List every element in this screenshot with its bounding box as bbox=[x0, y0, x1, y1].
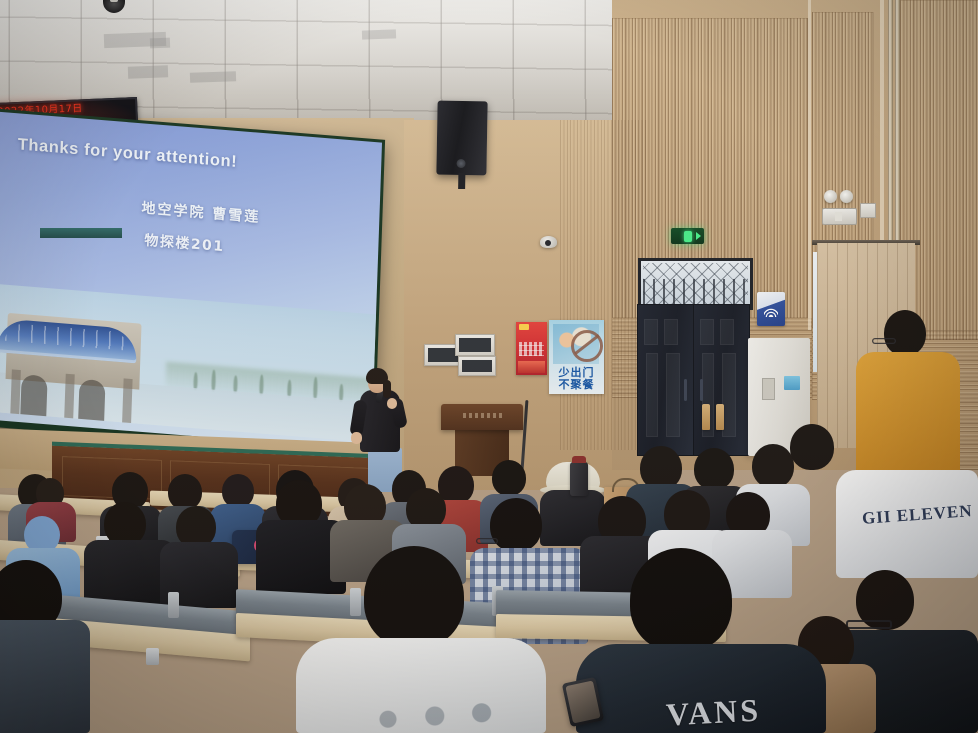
wall-slat-strip bbox=[560, 120, 646, 450]
poster-calendar-grid bbox=[519, 342, 544, 356]
emergency-light-lamp bbox=[824, 190, 837, 203]
emergency-exit-sign-icon bbox=[671, 228, 704, 244]
presenter-hair bbox=[383, 380, 391, 398]
projection-screen: Thanks for your attention! 地空学院 曹雪莲 物探楼2… bbox=[0, 112, 382, 451]
glasses-icon bbox=[846, 620, 892, 629]
thermos-bottle bbox=[570, 462, 588, 496]
person-head bbox=[884, 310, 926, 356]
running-man-icon bbox=[684, 231, 692, 242]
door-panel bbox=[644, 319, 658, 345]
wifi-icon bbox=[764, 305, 778, 317]
door-left[interactable] bbox=[637, 304, 694, 456]
door-right[interactable] bbox=[693, 304, 750, 456]
av-panel-face bbox=[428, 348, 458, 362]
person-head bbox=[492, 460, 526, 496]
poster-red bbox=[516, 322, 547, 375]
seat-post bbox=[350, 588, 361, 616]
door-handle[interactable] bbox=[700, 379, 703, 401]
emergency-light-unit bbox=[822, 208, 857, 225]
person-torso bbox=[856, 352, 960, 482]
wall-av-panel[interactable] bbox=[458, 356, 496, 376]
speaker-driver-icon bbox=[456, 159, 465, 168]
presenter-hand-left bbox=[351, 432, 362, 444]
person-head bbox=[752, 444, 794, 488]
bottle bbox=[716, 404, 724, 430]
light-switch-plate[interactable] bbox=[860, 203, 876, 218]
prohibition-symbol-icon bbox=[571, 330, 603, 362]
emergency-light-lamp bbox=[840, 190, 853, 203]
person-head bbox=[790, 424, 834, 470]
poster-health-notice: 少出门 不聚餐 bbox=[549, 320, 604, 394]
window-bars bbox=[643, 279, 748, 305]
wall-seam bbox=[808, 0, 811, 330]
door-panel bbox=[664, 319, 678, 345]
av-panel-face bbox=[459, 338, 491, 352]
poster-line-2: 不聚餐 bbox=[559, 378, 595, 391]
av-panel-face bbox=[462, 360, 492, 372]
person-head bbox=[168, 474, 202, 510]
glasses-icon bbox=[872, 338, 896, 344]
presenter-hand-right bbox=[387, 398, 397, 409]
exit-arrow-icon bbox=[696, 232, 701, 240]
person-head bbox=[630, 548, 732, 652]
door-handle[interactable] bbox=[684, 379, 687, 401]
wifi-placard bbox=[757, 292, 785, 326]
jacket-graphic-print bbox=[352, 700, 532, 732]
cabinet-label-sticker bbox=[784, 376, 800, 390]
door-panel bbox=[700, 319, 714, 345]
glasses-icon bbox=[476, 538, 498, 544]
screen-glare bbox=[0, 112, 382, 451]
lecture-hall-photo: 2022年10月17日 星期二 08分48秒 Thanks for your a… bbox=[0, 0, 978, 733]
door-transom-window bbox=[638, 258, 753, 310]
bottle bbox=[702, 404, 710, 430]
jacket-brand-text: VANS bbox=[665, 692, 762, 733]
seat-post bbox=[168, 592, 179, 618]
door-panel bbox=[666, 353, 680, 437]
person-head bbox=[490, 498, 542, 552]
dark-double-doors[interactable] bbox=[636, 258, 749, 454]
desk-bracket bbox=[146, 648, 159, 665]
person-head bbox=[222, 474, 254, 508]
wooden-podium bbox=[441, 404, 523, 430]
side-table bbox=[40, 228, 122, 238]
door-panel bbox=[646, 353, 658, 437]
projection-screen-frame: Thanks for your attention! 地空学院 曹雪莲 物探楼2… bbox=[0, 108, 385, 457]
cabinet-handle[interactable] bbox=[762, 378, 775, 400]
door-panel bbox=[722, 353, 736, 437]
person-head bbox=[364, 546, 464, 648]
poster-footer-band bbox=[518, 361, 545, 373]
person-torso bbox=[0, 620, 90, 733]
person-head bbox=[694, 448, 734, 490]
security-camera-icon bbox=[540, 236, 557, 248]
wall-av-panel[interactable] bbox=[455, 334, 495, 356]
poster-header-band bbox=[519, 324, 529, 330]
door-panel bbox=[720, 319, 734, 345]
wall-speaker bbox=[436, 101, 487, 176]
